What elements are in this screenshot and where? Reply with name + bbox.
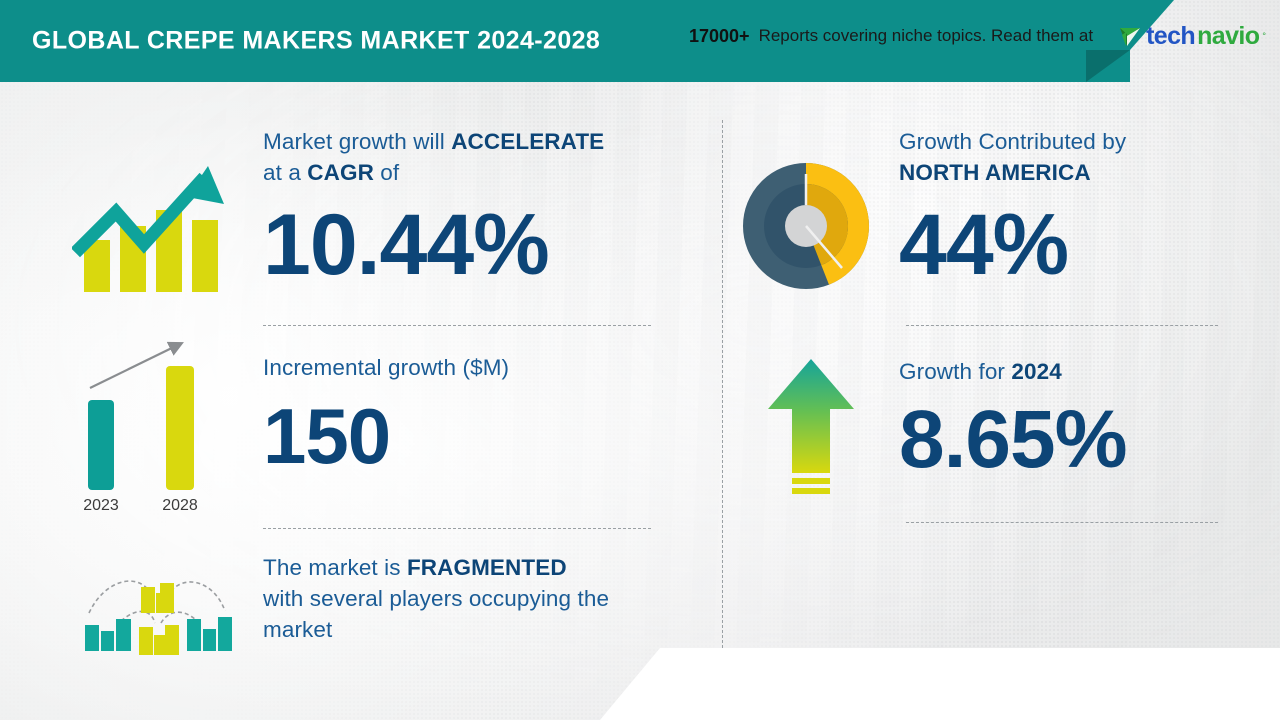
up-arrow-gradient-icon (766, 355, 856, 505)
fragmentation-text-block: The market is FRAGMENTED with several pl… (263, 552, 693, 645)
cagr-value: 10.44% (263, 202, 683, 288)
incremental-growth-text-block: Incremental growth ($M) 150 (263, 352, 683, 475)
cagr-text-block: Market growth will ACCELERATE at a CAGR … (263, 126, 683, 288)
incremental-growth-value: 150 (263, 397, 683, 475)
yearly-part1: Growth for (899, 359, 1011, 384)
incremental-growth-label: Incremental growth ($M) (263, 352, 683, 383)
logo-trademark: ° (1262, 31, 1266, 41)
footer-tagline: Reports covering niche topics. Read them… (759, 26, 1094, 46)
fragmentation-part3: market (263, 617, 332, 642)
donut-chart-icon (742, 162, 870, 290)
cagr-lead-strong1: ACCELERATE (451, 129, 604, 154)
bar-chart-growth-arrow-icon (72, 152, 232, 297)
cagr-lead-part1: Market growth will (263, 129, 451, 154)
bar-label-2028: 2028 (162, 497, 198, 514)
infographic-canvas: GLOBAL CREPE MAKERS MARKET 2024-2028 Mar… (0, 0, 1280, 720)
city-clusters-network-icon (75, 565, 237, 665)
divider-left-1 (263, 325, 651, 326)
yearly-growth-text-block: Growth for 2024 8.65% (899, 356, 1279, 481)
cagr-lead-strong2: CAGR (307, 160, 374, 185)
cagr-lead: Market growth will ACCELERATE at a CAGR … (263, 126, 683, 188)
footer-content: 17000+ Reports covering niche topics. Re… (689, 0, 1280, 72)
region-value: 44% (899, 202, 1279, 288)
fragmentation-part1: The market is (263, 555, 407, 580)
technavio-logo[interactable]: technavio° (1118, 23, 1266, 49)
divider-left-2 (263, 528, 651, 529)
bar-label-2023: 2023 (83, 497, 119, 514)
fragmentation-strong1: FRAGMENTED (407, 555, 567, 580)
divider-right-1 (906, 325, 1218, 326)
yearly-strong1: 2024 (1011, 359, 1061, 384)
footer-report-count: 17000+ (689, 26, 750, 47)
yearly-growth-value: 8.65% (899, 399, 1279, 481)
technavio-arrow-icon (1118, 23, 1144, 49)
page-title: GLOBAL CREPE MAKERS MARKET 2024-2028 (32, 27, 600, 56)
cagr-lead-part3: of (374, 160, 399, 185)
two-bar-comparison-icon: 2023 2028 (72, 330, 222, 522)
fragmentation-lead: The market is FRAGMENTED with several pl… (263, 552, 693, 645)
divider-right-2 (906, 522, 1218, 523)
region-text-block: Growth Contributed by NORTH AMERICA 44% (899, 126, 1279, 288)
region-strong1: NORTH AMERICA (899, 160, 1091, 185)
fragmentation-part2: with several players occupying the (263, 586, 609, 611)
region-lead: Growth Contributed by NORTH AMERICA (899, 126, 1279, 188)
yearly-growth-lead: Growth for 2024 (899, 356, 1279, 387)
logo-word-navio: navio (1197, 24, 1259, 49)
region-part1: Growth Contributed by (899, 129, 1126, 154)
column-separator (722, 120, 723, 648)
logo-word-tech: tech (1146, 24, 1195, 49)
cagr-lead-part2: at a (263, 160, 307, 185)
